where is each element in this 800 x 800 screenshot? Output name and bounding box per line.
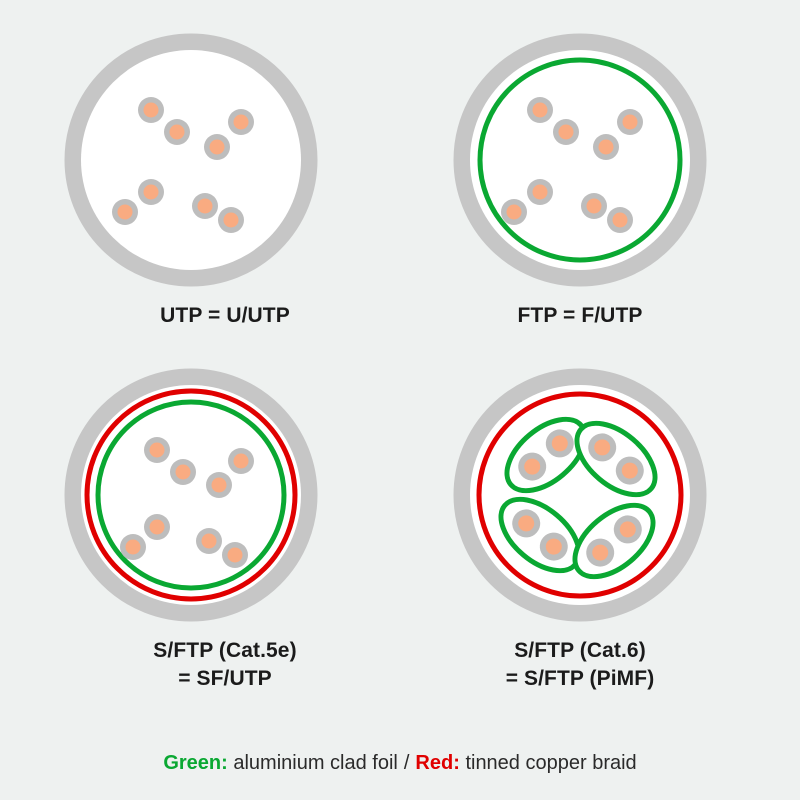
legend-green-label: Green:: [163, 752, 227, 774]
legend-green-text: aluminium clad foil: [233, 752, 398, 774]
cable-label-line1: S/FTP (Cat.5e): [45, 637, 405, 665]
cable-card-ftp: FTP = F/UTP: [400, 20, 760, 380]
jacket-interior: [470, 50, 690, 270]
legend-green-text-wrap: aluminium clad foil: [228, 752, 398, 774]
cable-card-sftp-cat6: S/FTP (Cat.6) = S/FTP (PiMF): [400, 355, 760, 715]
cable-label-ftp: FTP = F/UTP: [400, 302, 760, 330]
cable-diagram: UTP = U/UTP: [0, 0, 800, 800]
jacket-interior: [81, 385, 301, 605]
cable-cross-section-sftp-cat6: [400, 355, 760, 635]
cable-cross-section-utp: [45, 20, 405, 300]
cable-card-sftp-cat5e: S/FTP (Cat.5e) = SF/UTP: [45, 355, 405, 715]
legend-separator: /: [398, 752, 416, 774]
jacket-interior: [81, 50, 301, 270]
cable-label-utp: UTP = U/UTP: [45, 302, 405, 330]
legend: Green: aluminium clad foil/Red: tinned c…: [0, 752, 800, 775]
cable-card-utp: UTP = U/UTP: [45, 20, 405, 380]
cable-label-sftp-cat5e: S/FTP (Cat.5e) = SF/UTP: [45, 637, 405, 694]
cable-cross-section-ftp: [400, 20, 760, 300]
cable-label-line2: = S/FTP (PiMF): [400, 665, 760, 693]
cable-label-line1: UTP = U/UTP: [45, 302, 405, 330]
cable-cross-section-sftp-cat5e: [45, 355, 405, 635]
cable-label-sftp-cat6: S/FTP (Cat.6) = S/FTP (PiMF): [400, 637, 760, 694]
legend-red-text: tinned copper braid: [465, 752, 636, 774]
legend-red-text-wrap: tinned copper braid: [460, 752, 637, 774]
legend-red-label: Red:: [415, 752, 459, 774]
cable-label-line1: S/FTP (Cat.6): [400, 637, 760, 665]
cable-label-line2: = SF/UTP: [45, 665, 405, 693]
cable-label-line1: FTP = F/UTP: [400, 302, 760, 330]
